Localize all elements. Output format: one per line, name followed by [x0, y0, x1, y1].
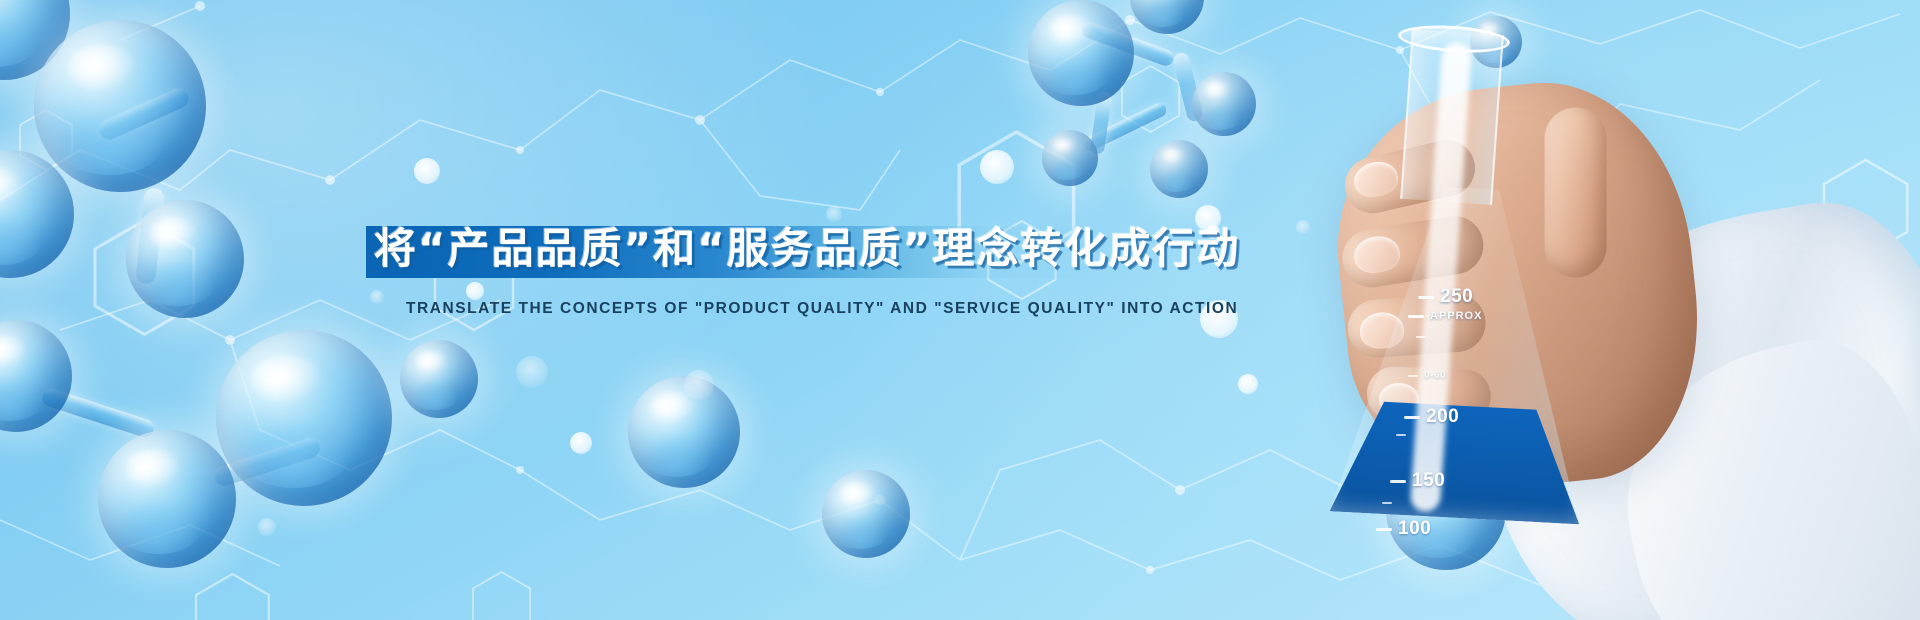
molecule-sphere: [1042, 130, 1098, 186]
graduation-label: 100: [1398, 518, 1431, 540]
bokeh-dot: [516, 356, 548, 388]
molecule-sphere: [126, 200, 244, 318]
hand-gripping-flask: [1322, 69, 1714, 504]
molecule-sphere: [1150, 140, 1208, 198]
flask-graduation-150: 150: [1390, 470, 1445, 492]
graduation-tick: [1376, 528, 1392, 531]
bokeh-dot: [980, 150, 1014, 184]
molecule-sphere: [34, 20, 206, 192]
bokeh-dot: [258, 518, 276, 536]
molecule-sphere: [628, 376, 740, 488]
graduation-tick: [1390, 480, 1406, 483]
bokeh-dot: [1238, 374, 1258, 394]
molecule-sphere: [216, 330, 392, 506]
molecule-sphere: [98, 430, 236, 568]
flask-graduation-100: 100: [1376, 518, 1431, 540]
molecule-sphere: [1130, 0, 1204, 34]
scientist-hand-flask-photo: 250APPROX0-60200150100: [1280, 0, 1920, 620]
headline-highlight-bar: 将“产品品质”和“服务品质”理念转化成行动: [366, 226, 1106, 278]
flask-graduation-minor: [1382, 502, 1392, 504]
banner-subline: TRANSLATE THE CONCEPTS OF "PRODUCT QUALI…: [366, 300, 1126, 318]
molecule-sphere: [1192, 72, 1256, 136]
molecule-sphere: [400, 340, 478, 418]
graduation-label: 150: [1412, 470, 1445, 492]
molecule-sphere: [1028, 0, 1134, 106]
graduation-tick: [1382, 502, 1392, 504]
banner-text-block: 将“产品品质”和“服务品质”理念转化成行动 TRANSLATE THE CONC…: [366, 226, 1126, 318]
molecule-sphere: [822, 470, 910, 558]
bokeh-dot: [570, 432, 592, 454]
banner-headline: 将“产品品质”和“服务品质”理念转化成行动: [374, 204, 1240, 270]
bokeh-dot: [684, 370, 714, 400]
lab-quality-banner: 250APPROX0-60200150100 将“产品品质”和“服务品质”理念转…: [0, 0, 1920, 620]
flask-rim: [1397, 22, 1511, 56]
bokeh-dot: [414, 158, 440, 184]
molecule-sphere: [0, 320, 72, 432]
